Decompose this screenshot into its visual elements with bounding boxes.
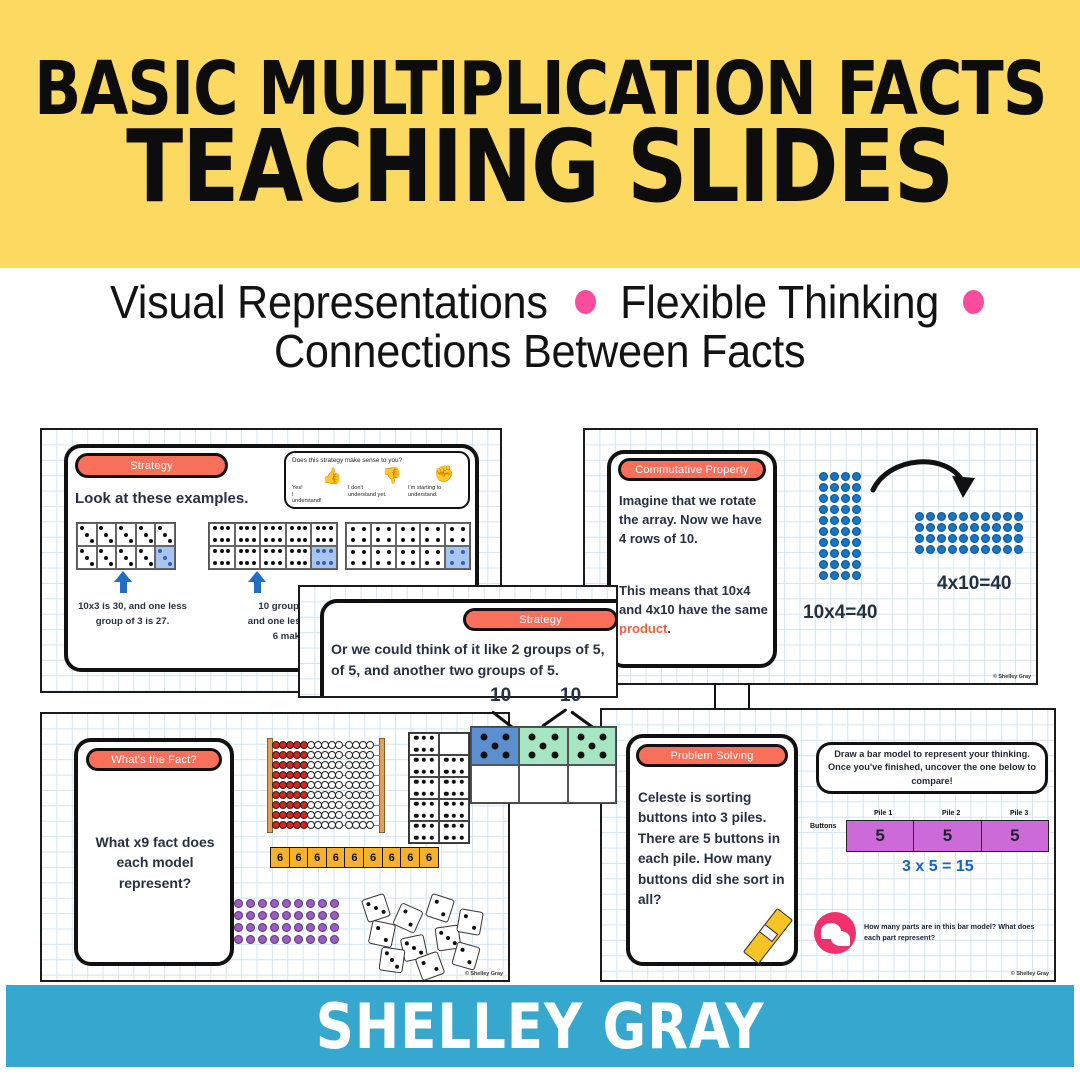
array-dot (841, 527, 850, 536)
array-dot (819, 538, 828, 547)
purple-dot (306, 935, 315, 944)
discussion-icon (814, 912, 856, 954)
array-dot (981, 534, 990, 543)
abacus-bead-row (345, 751, 373, 759)
abacus-bead-row (272, 801, 342, 809)
purple-dot (330, 935, 339, 944)
pencil-icon (750, 900, 820, 966)
abacus-bead (366, 751, 374, 759)
array-dot (852, 472, 861, 481)
domino-half (439, 821, 469, 843)
dot-card (136, 523, 156, 546)
array-dot (852, 516, 861, 525)
array-dot (1014, 523, 1023, 532)
array-dot (1014, 545, 1023, 554)
slide-strategy-groups-of-five[interactable]: Strategy Or we could think of it like 2 … (298, 585, 618, 698)
array-dot (830, 505, 839, 514)
purple-dot (330, 923, 339, 932)
slide1-caption-1: 10x3 is 30, and one less group of 3 is 2… (70, 600, 195, 630)
option-0-label: Yes! I understand! (292, 485, 322, 505)
purple-dot (306, 911, 315, 920)
array-dot (830, 483, 839, 492)
thumbs-down-icon: 👎 (382, 469, 402, 485)
dot-card (420, 546, 445, 569)
rekenrek-abacus (267, 738, 385, 833)
array-dot (959, 534, 968, 543)
array-dot (830, 538, 839, 547)
slide1-pill-label: Strategy (130, 460, 173, 472)
abacus-bead (335, 771, 343, 779)
dot-card (311, 546, 337, 569)
purple-dot (234, 911, 243, 920)
array-dot (992, 523, 1001, 532)
option-1-line2: understand yet. (348, 492, 398, 499)
dot-card-grid-fours (345, 522, 471, 570)
array-dot (841, 483, 850, 492)
abacus-bead-row (345, 761, 373, 769)
array-dot (926, 534, 935, 543)
array-dot (948, 534, 957, 543)
purple-dot (258, 923, 267, 932)
array-dot (819, 472, 828, 481)
array-dot (841, 549, 850, 558)
array-dot (841, 516, 850, 525)
abacus-bead-row (345, 791, 373, 799)
slide5-pill-badge: Problem Solving (636, 744, 788, 767)
unit-tile: 6 (363, 847, 383, 868)
array-dot (948, 512, 957, 521)
bond-left-number: 10 (490, 685, 511, 707)
slide4-pill-label: What's the Fact? (111, 754, 196, 766)
slide3-pill-label: Strategy (519, 614, 562, 626)
array-dot (852, 538, 861, 547)
bar-header-0: Pile 1 (874, 810, 892, 817)
up-arrow-icon (248, 571, 266, 582)
array-dot (992, 534, 1001, 543)
purple-dot (282, 923, 291, 932)
abacus-bead-row (272, 771, 342, 779)
purple-dot (246, 899, 255, 908)
purple-dot (282, 899, 291, 908)
unit-tiles-row: 666666666 (270, 847, 437, 868)
die (456, 908, 484, 936)
slide5-instruction: Draw a bar model to represent your think… (827, 748, 1037, 788)
array-dot (830, 494, 839, 503)
array-dot (981, 523, 990, 532)
slide3-body: Or we could think of it like 2 groups of… (331, 640, 618, 683)
dot-card (155, 546, 175, 569)
dot-card (209, 523, 235, 546)
die (451, 941, 481, 971)
abacus-bead (335, 791, 343, 799)
array-dot (819, 527, 828, 536)
instruction-bubble: Draw a bar model to represent your think… (816, 742, 1048, 794)
array-dot (830, 571, 839, 580)
abacus-bead (335, 811, 343, 819)
dot-card (260, 546, 286, 569)
understanding-question: Does this strategy make sense to you? (292, 457, 402, 464)
array-dot (841, 571, 850, 580)
purple-dot (330, 899, 339, 908)
subtitle-row-2: Connections Between Facts (257, 327, 822, 376)
array-dot (852, 483, 861, 492)
slide1-heading: Look at these examples. (75, 490, 248, 507)
slide5-pill-label: Problem Solving (670, 750, 753, 762)
array-dot (970, 512, 979, 521)
array-1-label: 10x4=40 (803, 602, 878, 624)
dot-card (371, 523, 396, 546)
abacus-bead (335, 751, 343, 759)
abacus-bead (366, 821, 374, 829)
purple-dot (270, 935, 279, 944)
option-2-line2: understand. (408, 492, 468, 499)
array-dot (1014, 512, 1023, 521)
purple-dot (306, 923, 315, 932)
bar-model: 5 5 5 (846, 820, 1049, 852)
abacus-bead-row (272, 811, 342, 819)
connector-line (748, 683, 750, 711)
subtitle-row-1: Visual Representations Flexible Thinking (96, 278, 985, 327)
brand-name: SHELLEY GRAY (316, 990, 765, 1063)
array-dot (852, 505, 861, 514)
array-dot (819, 494, 828, 503)
unit-tile: 6 (419, 847, 439, 868)
abacus-bead-row (272, 761, 342, 769)
option-2-line1: I'm starting to (408, 485, 468, 492)
array-dot (992, 512, 1001, 521)
abacus-bead-row (272, 791, 342, 799)
subtitle-part-3: Connections Between Facts (274, 327, 805, 376)
purple-dot (246, 911, 255, 920)
dot-card (346, 523, 371, 546)
array-dot (852, 560, 861, 569)
slide2-body-2-pre: This means that 10x4 and 4x10 have the s… (619, 583, 768, 617)
purple-dot (246, 935, 255, 944)
die (378, 946, 405, 973)
bar-header-2: Pile 3 (1010, 810, 1028, 817)
unit-tile: 6 (307, 847, 327, 868)
array-dot (1003, 534, 1012, 543)
array-dot (915, 523, 924, 532)
array-dot (1014, 534, 1023, 543)
option-0-line1: Yes! (292, 485, 322, 492)
abacus-bead (335, 761, 343, 769)
array-dot (915, 512, 924, 521)
purple-dot (234, 935, 243, 944)
domino-half (409, 733, 439, 755)
slide2-body-2-accent: product (619, 621, 667, 636)
domino-stack (408, 732, 470, 844)
dot-card (420, 523, 445, 546)
array-dot (852, 494, 861, 503)
dot-card (286, 523, 312, 546)
abacus-bead (366, 781, 374, 789)
abacus-bead (335, 781, 343, 789)
array-4x10 (915, 512, 1025, 556)
domino-half (439, 777, 469, 799)
discussion-prompt: How many parts are in this bar model? Wh… (864, 922, 1044, 944)
array-10x4 (819, 472, 863, 582)
slide4-question-line3: represent? (82, 873, 228, 893)
footer-banner: SHELLEY GRAY (6, 985, 1074, 1067)
dot-card (260, 523, 286, 546)
purple-dot (318, 911, 327, 920)
slide5-copyright: © Shelley Gray (1011, 971, 1049, 977)
array-dot (948, 523, 957, 532)
purple-dot (330, 911, 339, 920)
array-dot (1003, 523, 1012, 532)
header-banner: BASIC MULTIPLICATION FACTS TEACHING SLID… (0, 0, 1080, 268)
thumbs-up-icon: 👍 (322, 469, 342, 485)
purple-dot (318, 935, 327, 944)
array-dot (926, 512, 935, 521)
purple-dot (306, 899, 315, 908)
abacus-bead (335, 741, 343, 749)
bond-leg (541, 708, 567, 728)
dot-card (371, 546, 396, 569)
dot-card (97, 523, 117, 546)
slide2-body-2-post: . (667, 621, 671, 636)
dot-card (445, 523, 470, 546)
array-dot (970, 534, 979, 543)
dot-card-grid-threes (76, 522, 176, 570)
array-dot (970, 545, 979, 554)
abacus-bead-row (272, 751, 342, 759)
dot-card (77, 546, 97, 569)
slide3-pill-badge: Strategy (463, 608, 618, 631)
purple-dot (294, 935, 303, 944)
thumbs-sideways-icon: ✊ (434, 467, 454, 483)
array-2-label: 4x10=40 (937, 573, 1012, 595)
abacus-bead (335, 801, 343, 809)
purple-dot (282, 935, 291, 944)
array-dot (841, 494, 850, 503)
array-dot (841, 538, 850, 547)
purple-array (234, 899, 342, 947)
dot-card (116, 523, 136, 546)
slide2-body-1: Imagine that we rotate the array. Now we… (619, 492, 765, 549)
slide-problem-solving[interactable]: Problem Solving Celeste is sorting butto… (600, 708, 1056, 982)
up-arrow-icon (114, 571, 132, 582)
array-dot (959, 512, 968, 521)
subtitle-part-1: Visual Representations (110, 278, 548, 327)
domino-half (439, 755, 469, 777)
array-dot (992, 545, 1001, 554)
array-dot (1003, 545, 1012, 554)
purple-dot (282, 911, 291, 920)
purple-dot (234, 899, 243, 908)
purple-dot (234, 923, 243, 932)
dot-card (235, 546, 261, 569)
domino-half (439, 799, 469, 821)
array-dot (970, 523, 979, 532)
array-dot (1003, 512, 1012, 521)
array-dot (819, 516, 828, 525)
array-dot (830, 516, 839, 525)
dot-card (155, 523, 175, 546)
slide-commutative-property[interactable]: Commutative Property Imagine that we rot… (583, 428, 1038, 685)
array-dot (830, 527, 839, 536)
slide1-pill-badge: Strategy (75, 453, 228, 478)
bar-header-1: Pile 2 (942, 810, 960, 817)
array-dot (819, 560, 828, 569)
purple-dot (258, 899, 267, 908)
understanding-check-box: Does this strategy make sense to you? 👍 … (284, 451, 470, 509)
die (361, 893, 391, 923)
bar-row-label: Buttons (810, 823, 836, 830)
array-dot (819, 549, 828, 558)
abacus-bead (335, 821, 343, 829)
purple-dot (258, 911, 267, 920)
subtitle-block: Visual Representations Flexible Thinking… (0, 272, 1080, 404)
dot-card (396, 546, 421, 569)
slide4-question-line1: What x9 fact does (82, 832, 228, 852)
array-dot (819, 571, 828, 580)
dot-card (116, 546, 136, 569)
poster-root: BASIC MULTIPLICATION FACTS TEACHING SLID… (0, 0, 1080, 1080)
dot-card (97, 546, 117, 569)
purple-dot (294, 899, 303, 908)
array-dot (937, 534, 946, 543)
unit-tile: 6 (270, 847, 290, 868)
array-dot (841, 560, 850, 569)
abacus-bead (366, 811, 374, 819)
slide4-question-line2: each model (82, 852, 228, 872)
domino-half (439, 733, 469, 755)
ten-frame-cell (471, 727, 519, 765)
bar-cell-2: 5 (982, 821, 1048, 851)
purple-dot (318, 899, 327, 908)
abacus-bead-row (345, 801, 373, 809)
ten-frame-cell (568, 765, 616, 803)
ten-frame-cell (471, 765, 519, 803)
array-dot (819, 505, 828, 514)
slide2-pill-badge: Commutative Property (618, 458, 766, 481)
bullet-dot-icon (963, 290, 984, 314)
array-dot (937, 545, 946, 554)
purple-dot (270, 911, 279, 920)
slide4-question: What x9 fact does each model represent? (82, 832, 228, 893)
abacus-bead-row (345, 741, 373, 749)
bar-cell-0: 5 (847, 821, 914, 851)
purple-dot (294, 911, 303, 920)
page-title-line2: TEACHING SLIDES (127, 123, 954, 211)
array-dot (959, 545, 968, 554)
array-dot (915, 545, 924, 554)
slide2-body-2: This means that 10x4 and 4x10 have the s… (619, 582, 769, 639)
purple-dot (270, 923, 279, 932)
abacus-bead (366, 771, 374, 779)
dot-card (209, 546, 235, 569)
slide4-pill-badge: What's the Fact? (86, 748, 222, 771)
array-dot (830, 472, 839, 481)
domino-half (409, 799, 439, 821)
abacus-bead (366, 801, 374, 809)
purple-dot (318, 923, 327, 932)
ten-frame-cell (568, 727, 616, 765)
purple-dot (270, 899, 279, 908)
slide4-copyright: © Shelley Gray (465, 971, 503, 977)
array-dot (819, 483, 828, 492)
unit-tile: 6 (382, 847, 402, 868)
option-0-line2: I understand! (292, 492, 322, 505)
slide5-word-problem: Celeste is sorting buttons into 3 piles.… (638, 788, 790, 910)
purple-dot (258, 935, 267, 944)
slide2-pill-label: Commutative Property (635, 464, 748, 476)
abacus-bead-row (345, 771, 373, 779)
purple-dot (294, 923, 303, 932)
array-dot (830, 560, 839, 569)
dot-card-grid-sixes (208, 522, 338, 570)
ten-frame-cell (519, 765, 567, 803)
array-dot (981, 512, 990, 521)
ten-frame-cell (519, 727, 567, 765)
dot-card (286, 546, 312, 569)
array-dot (841, 505, 850, 514)
ten-frame-cards (470, 726, 617, 804)
dot-card (396, 523, 421, 546)
dot-card (77, 523, 97, 546)
abacus-bead (366, 761, 374, 769)
rotate-arrow-icon (869, 448, 989, 510)
slide2-copyright: © Shelley Gray (993, 674, 1031, 680)
array-dot (937, 512, 946, 521)
die (368, 920, 396, 948)
slide3-body-line2: of 5, and another two groups of 5. (331, 661, 618, 682)
array-dot (830, 549, 839, 558)
array-dot (937, 523, 946, 532)
array-dot (915, 534, 924, 543)
dot-card (136, 546, 156, 569)
array-dot (841, 472, 850, 481)
option-2-label: I'm starting to understand. (408, 485, 468, 498)
dot-card (445, 546, 470, 569)
array-dot (981, 545, 990, 554)
purple-dot (246, 923, 255, 932)
abacus-bead-row (272, 821, 342, 829)
domino-half (409, 777, 439, 799)
array-dot (852, 549, 861, 558)
abacus-bead-row (345, 821, 373, 829)
dot-card (235, 523, 261, 546)
die (425, 893, 455, 923)
domino-half (409, 755, 439, 777)
connector-line (714, 683, 716, 711)
domino-half (409, 821, 439, 843)
array-dot (959, 523, 968, 532)
option-1-label: I don't understand yet. (348, 485, 398, 498)
unit-tile: 6 (344, 847, 364, 868)
slide3-body-line1: Or we could think of it like 2 groups of… (331, 640, 618, 661)
dice-scatter (362, 892, 502, 972)
abacus-bead-row (345, 781, 373, 789)
abacus-bead-row (272, 741, 342, 749)
slide-whats-the-fact[interactable]: What's the Fact? What x9 fact does each … (40, 712, 510, 982)
array-dot (852, 571, 861, 580)
abacus-bead (366, 741, 374, 749)
dot-card (311, 523, 337, 546)
abacus-bead (366, 791, 374, 799)
bar-equation: 3 x 5 = 15 (902, 858, 974, 876)
array-dot (948, 545, 957, 554)
option-1-line1: I don't (348, 485, 398, 492)
bar-cell-1: 5 (914, 821, 981, 851)
bond-right-number: 10 (560, 685, 581, 707)
array-dot (926, 545, 935, 554)
array-dot (852, 527, 861, 536)
die (392, 902, 424, 934)
unit-tile: 6 (400, 847, 420, 868)
